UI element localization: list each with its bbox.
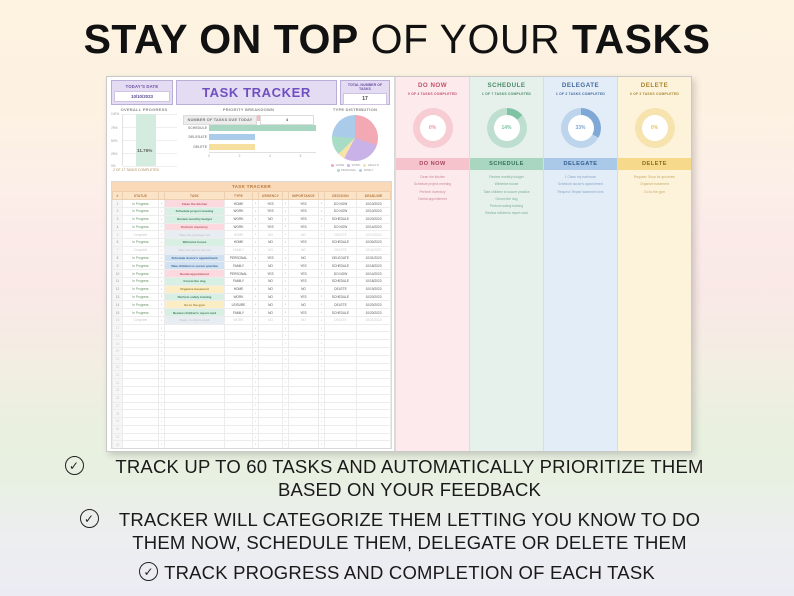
table-row[interactable]: 4In Progress▾Perform inventoryWORK▾YES▾Y… bbox=[113, 223, 391, 231]
table-header-task[interactable]: TASK bbox=[165, 192, 225, 200]
cell-status[interactable]: In Progress bbox=[123, 278, 159, 286]
cell-status[interactable]: Complete bbox=[123, 246, 159, 254]
cell-empty[interactable] bbox=[325, 348, 357, 356]
panel-list-item: 1 Clean my bathroom bbox=[547, 174, 614, 181]
cell-task[interactable]: Take the pet to the vet bbox=[165, 246, 225, 254]
table-row[interactable]: 20 ▾ ▾ ▾ ▾ bbox=[113, 348, 391, 356]
cell-status[interactable]: In Progress bbox=[123, 270, 159, 278]
cell-status[interactable]: In Progress bbox=[123, 215, 159, 223]
y-tick-100: 100% bbox=[111, 112, 119, 116]
tasks-due-today-value[interactable]: 4 bbox=[260, 115, 314, 125]
cell-empty[interactable] bbox=[325, 371, 357, 379]
priority-label-schedule: SCHEDULE bbox=[182, 126, 207, 130]
cell-importance[interactable]: YES bbox=[289, 239, 319, 247]
cell-type[interactable]: FAMILY bbox=[225, 246, 253, 254]
table-row[interactable]: 22 ▾ ▾ ▾ ▾ bbox=[113, 363, 391, 371]
cell-empty[interactable] bbox=[325, 332, 357, 340]
table-row[interactable]: 21 ▾ ▾ ▾ ▾ bbox=[113, 355, 391, 363]
cell-empty[interactable] bbox=[123, 348, 159, 356]
cell-empty[interactable] bbox=[289, 355, 319, 363]
cell-empty[interactable] bbox=[123, 433, 159, 441]
row-number: 5 bbox=[113, 231, 123, 239]
row-number[interactable]: 28 bbox=[113, 410, 123, 418]
legend-item-home: HOME bbox=[331, 163, 344, 167]
panel-sc[interactable]: SCHEDULE1 OF 7 TASKS COMPLETED14%SCHEDUL… bbox=[469, 77, 543, 451]
cell-type[interactable]: FAMILY bbox=[225, 262, 253, 270]
cell-empty[interactable] bbox=[357, 386, 391, 394]
feature-bullets: ✓TRACK UP TO 60 TASKS AND AUTOMATICALLY … bbox=[0, 455, 794, 591]
panel-dl[interactable]: DELETE0 OF 3 TASKS COMPLETED0%DELETERequ… bbox=[617, 77, 691, 451]
cell-urgency[interactable]: NO bbox=[259, 285, 283, 293]
cell-status[interactable]: In Progress bbox=[123, 285, 159, 293]
cell-type[interactable]: FAMILY bbox=[225, 278, 253, 286]
row-number[interactable]: 18 bbox=[113, 332, 123, 340]
cell-status[interactable]: Complete bbox=[123, 231, 159, 239]
cell-empty[interactable] bbox=[289, 324, 319, 332]
cell-importance[interactable]: NO bbox=[289, 301, 319, 309]
cell-empty[interactable] bbox=[225, 433, 253, 441]
cell-empty[interactable] bbox=[123, 371, 159, 379]
cell-empty[interactable] bbox=[225, 355, 253, 363]
cell-empty[interactable] bbox=[357, 425, 391, 433]
cell-urgency[interactable]: YES bbox=[259, 223, 283, 231]
cell-type[interactable]: HOME bbox=[225, 231, 253, 239]
table-row[interactable]: 14In Progress▾Go to the gymLEISURE▾NO▾NO… bbox=[113, 301, 391, 309]
cell-deadline[interactable]: 10/14/2023 bbox=[357, 223, 391, 231]
cell-empty[interactable] bbox=[259, 355, 283, 363]
table-row[interactable]: 1In Progress▾Clean the kitchenHOME▾YES▾Y… bbox=[113, 200, 391, 208]
row-number[interactable]: 25 bbox=[113, 386, 123, 394]
panel-donut-wrap-dg: 33% bbox=[544, 99, 617, 158]
cell-deadline[interactable]: 10/20/2023 bbox=[357, 215, 391, 223]
cell-status[interactable]: In Progress bbox=[123, 200, 159, 208]
cell-empty[interactable] bbox=[325, 418, 357, 426]
spreadsheet-window[interactable]: TODAY'S DATE 10/10/2023 TASK TRACKER TOT… bbox=[106, 76, 692, 452]
cell-task[interactable]: Groom the dog bbox=[165, 278, 225, 286]
cell-empty[interactable] bbox=[225, 363, 253, 371]
cell-deadline[interactable]: 10/18/2023 bbox=[357, 278, 391, 286]
table-row[interactable]: 12In Progress▾Organize basementHOME▾NO▾N… bbox=[113, 285, 391, 293]
cell-empty[interactable] bbox=[325, 394, 357, 402]
cell-status[interactable]: In Progress bbox=[123, 223, 159, 231]
priority-row-delete: DELETE bbox=[209, 143, 316, 151]
cell-empty[interactable] bbox=[165, 410, 225, 418]
cell-status[interactable]: In Progress bbox=[123, 262, 159, 270]
cell-empty[interactable] bbox=[259, 410, 283, 418]
cell-empty[interactable] bbox=[357, 402, 391, 410]
table-row[interactable]: 10In Progress▾Dental appointmentPERSONAL… bbox=[113, 270, 391, 278]
cell-importance[interactable]: YES bbox=[289, 293, 319, 301]
cell-empty[interactable] bbox=[259, 324, 283, 332]
cell-importance[interactable]: YES bbox=[289, 262, 319, 270]
panel-dg[interactable]: DELEGATE1 OF 3 TASKS COMPLETED33%DELEGAT… bbox=[543, 77, 617, 451]
cell-empty[interactable] bbox=[225, 379, 253, 387]
row-number[interactable]: 21 bbox=[113, 355, 123, 363]
cell-deadline[interactable]: 10/20/2023 bbox=[357, 309, 391, 317]
cell-empty[interactable] bbox=[165, 394, 225, 402]
cell-decision: DO NOW bbox=[325, 200, 357, 208]
cell-empty[interactable] bbox=[165, 379, 225, 387]
cell-deadline[interactable]: 10/14/2023 bbox=[357, 270, 391, 278]
panel-do[interactable]: DO NOW0 OF 4 TASKS COMPLETED0%DO NOWClea… bbox=[395, 77, 469, 451]
table-row[interactable]: 3In Progress▾Review monthly budgetWORK▾N… bbox=[113, 215, 391, 223]
cell-type[interactable]: WORK bbox=[225, 293, 253, 301]
cell-empty[interactable] bbox=[357, 355, 391, 363]
cell-empty[interactable] bbox=[259, 418, 283, 426]
row-number[interactable]: 29 bbox=[113, 418, 123, 426]
cell-empty[interactable] bbox=[289, 418, 319, 426]
panel-list-dg: 1 Clean my bathroomSchedule doctor's app… bbox=[544, 170, 617, 451]
cell-task[interactable]: Perform inventory bbox=[165, 223, 225, 231]
cell-urgency[interactable]: YES bbox=[259, 207, 283, 215]
cell-status[interactable]: In Progress bbox=[123, 301, 159, 309]
cell-empty[interactable] bbox=[123, 332, 159, 340]
cell-empty[interactable] bbox=[123, 402, 159, 410]
cell-empty[interactable] bbox=[165, 418, 225, 426]
cell-empty[interactable] bbox=[165, 425, 225, 433]
cell-importance[interactable]: YES bbox=[289, 270, 319, 278]
cell-empty[interactable] bbox=[165, 332, 225, 340]
cell-task[interactable]: Review children's report card bbox=[165, 309, 225, 317]
cell-task[interactable]: Schedule doctor's appointment bbox=[165, 254, 225, 262]
cell-empty[interactable] bbox=[259, 441, 283, 449]
cell-urgency[interactable]: NO bbox=[259, 239, 283, 247]
total-tasks-cell[interactable]: TOTAL NUMBER OF TASKS 17 bbox=[340, 80, 390, 105]
table-row[interactable]: 17 ▾ ▾ ▾ ▾ bbox=[113, 324, 391, 332]
cell-empty[interactable] bbox=[165, 371, 225, 379]
cell-empty[interactable] bbox=[123, 324, 159, 332]
cell-empty[interactable] bbox=[123, 340, 159, 348]
cell-empty[interactable] bbox=[325, 340, 357, 348]
table-row[interactable]: 5Complete▾Take the garbage outHOME▾NO▾NO… bbox=[113, 231, 391, 239]
table-row[interactable]: 15In Progress▾Review children's report c… bbox=[113, 309, 391, 317]
cell-urgency[interactable]: YES bbox=[259, 200, 283, 208]
row-number[interactable]: 27 bbox=[113, 402, 123, 410]
cell-urgency[interactable]: YES bbox=[259, 254, 283, 262]
row-number[interactable]: 30 bbox=[113, 425, 123, 433]
cell-empty[interactable] bbox=[165, 348, 225, 356]
cell-status[interactable]: In Progress bbox=[123, 293, 159, 301]
cell-task[interactable]: Clean the kitchen bbox=[165, 200, 225, 208]
cell-empty[interactable] bbox=[165, 402, 225, 410]
cell-empty[interactable] bbox=[225, 324, 253, 332]
cell-task[interactable]: Go to the gym bbox=[165, 301, 225, 309]
cell-empty[interactable] bbox=[165, 340, 225, 348]
cell-empty[interactable] bbox=[123, 418, 159, 426]
table-row[interactable]: 26 ▾ ▾ ▾ ▾ bbox=[113, 394, 391, 402]
cell-empty[interactable] bbox=[289, 402, 319, 410]
cell-importance[interactable]: NO bbox=[289, 254, 319, 262]
cell-urgency[interactable]: NO bbox=[259, 278, 283, 286]
table-row[interactable]: 2In Progress▾Schedule project meetingWOR… bbox=[113, 207, 391, 215]
table-header-decision[interactable]: DECISION bbox=[325, 192, 357, 200]
cell-decision: DELETE bbox=[325, 301, 357, 309]
cell-task[interactable]: Take the garbage out bbox=[165, 231, 225, 239]
task-table[interactable]: TASK TRACKER #STATUSTASKTYPEURGENCYIMPOR… bbox=[111, 181, 392, 449]
cell-status[interactable]: In Progress bbox=[123, 254, 159, 262]
cell-empty[interactable] bbox=[259, 433, 283, 441]
cell-empty[interactable] bbox=[289, 425, 319, 433]
cell-type[interactable]: LEISURE bbox=[225, 301, 253, 309]
cell-empty[interactable] bbox=[357, 394, 391, 402]
cell-empty[interactable] bbox=[289, 363, 319, 371]
cell-importance[interactable]: YES bbox=[289, 223, 319, 231]
cell-status[interactable]: In Progress bbox=[123, 239, 159, 247]
cell-empty[interactable] bbox=[123, 425, 159, 433]
cell-empty[interactable] bbox=[123, 394, 159, 402]
cell-empty[interactable] bbox=[225, 410, 253, 418]
cell-empty[interactable] bbox=[289, 348, 319, 356]
panel-subtitle-do: 0 OF 4 TASKS COMPLETED bbox=[396, 92, 469, 96]
cell-empty[interactable] bbox=[325, 379, 357, 387]
table-header-#[interactable]: # bbox=[113, 192, 123, 200]
cell-empty[interactable] bbox=[225, 332, 253, 340]
cell-empty[interactable] bbox=[289, 441, 319, 449]
cell-empty[interactable] bbox=[259, 348, 283, 356]
row-number[interactable]: 32 bbox=[113, 441, 123, 449]
cell-empty[interactable] bbox=[259, 425, 283, 433]
cell-deadline[interactable]: 10/19/2023 bbox=[357, 285, 391, 293]
cell-empty[interactable] bbox=[289, 332, 319, 340]
cell-empty[interactable] bbox=[225, 441, 253, 449]
cell-empty[interactable] bbox=[259, 363, 283, 371]
cell-empty[interactable] bbox=[357, 332, 391, 340]
cell-empty[interactable] bbox=[225, 348, 253, 356]
cell-empty[interactable] bbox=[325, 355, 357, 363]
cell-empty[interactable] bbox=[357, 379, 391, 387]
cell-empty[interactable] bbox=[225, 394, 253, 402]
cell-importance[interactable]: NO bbox=[289, 285, 319, 293]
row-number[interactable]: 19 bbox=[113, 340, 123, 348]
cell-empty[interactable] bbox=[357, 340, 391, 348]
cell-empty[interactable] bbox=[225, 371, 253, 379]
row-number[interactable]: 31 bbox=[113, 433, 123, 441]
cell-empty[interactable] bbox=[289, 371, 319, 379]
cell-empty[interactable] bbox=[123, 410, 159, 418]
row-number[interactable]: 26 bbox=[113, 394, 123, 402]
table-row[interactable]: 23 ▾ ▾ ▾ ▾ bbox=[113, 371, 391, 379]
cell-empty[interactable] bbox=[225, 425, 253, 433]
cell-deadline[interactable]: 10/30/2023 bbox=[357, 239, 391, 247]
cell-type[interactable]: PERSONAL bbox=[225, 254, 253, 262]
cell-type[interactable]: WORK bbox=[225, 207, 253, 215]
table-row[interactable]: 25 ▾ ▾ ▾ ▾ bbox=[113, 386, 391, 394]
panel-band-do: DO NOW bbox=[396, 158, 469, 170]
cell-empty[interactable] bbox=[357, 363, 391, 371]
cell-deadline[interactable]: 10/21/2023 bbox=[357, 316, 391, 324]
type-distribution-legend: HOME WORK HEALTH PERSONAL FAMILY bbox=[320, 161, 390, 172]
cell-empty[interactable] bbox=[357, 324, 391, 332]
cell-empty[interactable] bbox=[123, 363, 159, 371]
row-number[interactable]: 20 bbox=[113, 348, 123, 356]
row-number[interactable]: 22 bbox=[113, 363, 123, 371]
cell-type[interactable]: WORK bbox=[225, 215, 253, 223]
table-row[interactable]: 30 ▾ ▾ ▾ ▾ bbox=[113, 425, 391, 433]
table-row[interactable]: 13In Progress▾Perform safety trainingWOR… bbox=[113, 293, 391, 301]
cell-importance[interactable]: YES bbox=[289, 278, 319, 286]
cell-empty[interactable] bbox=[225, 418, 253, 426]
table-row[interactable]: 31 ▾ ▾ ▾ ▾ bbox=[113, 433, 391, 441]
cell-deadline[interactable]: 10/10/2023 bbox=[357, 200, 391, 208]
cell-empty[interactable] bbox=[165, 386, 225, 394]
cell-empty[interactable] bbox=[289, 410, 319, 418]
y-tick-50: 50% bbox=[111, 139, 117, 143]
cell-urgency[interactable]: NO bbox=[259, 231, 283, 239]
donut-chart-sc: 14% bbox=[487, 108, 527, 148]
cell-empty[interactable] bbox=[259, 402, 283, 410]
cell-urgency[interactable]: NO bbox=[259, 316, 283, 324]
cell-empty[interactable] bbox=[357, 441, 391, 449]
panel-header-sc: SCHEDULE1 OF 7 TASKS COMPLETED bbox=[470, 77, 543, 99]
cell-empty[interactable] bbox=[165, 363, 225, 371]
table-row[interactable]: 7Complete▾Take the pet to the vetFAMILY▾… bbox=[113, 246, 391, 254]
cell-empty[interactable] bbox=[289, 379, 319, 387]
cell-empty[interactable] bbox=[325, 441, 357, 449]
table-row[interactable]: 11In Progress▾Groom the dogFAMILY▾NO▾YES… bbox=[113, 278, 391, 286]
cell-empty[interactable] bbox=[289, 433, 319, 441]
cell-empty[interactable] bbox=[325, 402, 357, 410]
row-number[interactable]: 17 bbox=[113, 324, 123, 332]
row-number[interactable]: 23 bbox=[113, 371, 123, 379]
cell-empty[interactable] bbox=[123, 355, 159, 363]
cell-type[interactable]: HOME bbox=[225, 239, 253, 247]
cell-deadline[interactable]: 10/18/2023 bbox=[357, 262, 391, 270]
cell-importance[interactable]: NO bbox=[289, 246, 319, 254]
cell-type[interactable]: FAMILY bbox=[225, 309, 253, 317]
cell-empty[interactable] bbox=[225, 340, 253, 348]
cell-status[interactable]: In Progress bbox=[123, 309, 159, 317]
cell-deadline[interactable]: 10/20/2023 bbox=[357, 293, 391, 301]
cell-empty[interactable] bbox=[259, 379, 283, 387]
cell-empty[interactable] bbox=[259, 340, 283, 348]
cell-empty[interactable] bbox=[325, 410, 357, 418]
cell-empty[interactable] bbox=[165, 355, 225, 363]
cell-task[interactable]: Perform safety training bbox=[165, 293, 225, 301]
cell-type[interactable]: HOME bbox=[225, 285, 253, 293]
cell-status[interactable]: In Progress bbox=[123, 207, 159, 215]
cell-urgency[interactable]: NO bbox=[259, 262, 283, 270]
cell-urgency[interactable]: YES bbox=[259, 270, 283, 278]
cell-empty[interactable] bbox=[325, 324, 357, 332]
cell-empty[interactable] bbox=[259, 332, 283, 340]
cell-deadline[interactable]: 10/12/2023 bbox=[357, 231, 391, 239]
table-header-status[interactable]: STATUS bbox=[123, 192, 159, 200]
cell-empty[interactable] bbox=[325, 363, 357, 371]
todays-date-value[interactable]: 10/10/2023 bbox=[114, 91, 170, 102]
cell-empty[interactable] bbox=[225, 386, 253, 394]
panel-list-item: Review monthly budget bbox=[473, 174, 540, 181]
cell-empty[interactable] bbox=[123, 386, 159, 394]
cell-empty[interactable] bbox=[225, 402, 253, 410]
table-row[interactable]: 9In Progress▾Take children to soccer pra… bbox=[113, 262, 391, 270]
cell-importance[interactable]: YES bbox=[289, 207, 319, 215]
panel-list-item: Take children to soccer practice bbox=[473, 188, 540, 195]
cell-task[interactable]: Take children to soccer practice bbox=[165, 262, 225, 270]
cell-empty[interactable] bbox=[357, 371, 391, 379]
cell-empty[interactable] bbox=[259, 371, 283, 379]
cell-empty[interactable] bbox=[357, 433, 391, 441]
cell-empty[interactable] bbox=[289, 394, 319, 402]
table-row[interactable]: 18 ▾ ▾ ▾ ▾ bbox=[113, 332, 391, 340]
cell-task[interactable]: Review monthly budget bbox=[165, 215, 225, 223]
cell-task[interactable]: Dental appointment bbox=[165, 270, 225, 278]
table-row[interactable]: 24 ▾ ▾ ▾ ▾ bbox=[113, 379, 391, 387]
table-header-urgency[interactable]: URGENCY bbox=[259, 192, 283, 200]
cell-empty[interactable] bbox=[325, 386, 357, 394]
cell-empty[interactable] bbox=[325, 433, 357, 441]
legend-label-work: WORK bbox=[352, 163, 361, 167]
cell-importance[interactable]: YES bbox=[289, 309, 319, 317]
cell-deadline[interactable]: 10/11/2023 bbox=[357, 246, 391, 254]
cell-empty[interactable] bbox=[123, 379, 159, 387]
cell-importance[interactable]: NO bbox=[289, 316, 319, 324]
cell-urgency[interactable]: NO bbox=[259, 309, 283, 317]
donut-percent-sc: 14% bbox=[501, 125, 511, 131]
table-row[interactable]: 28 ▾ ▾ ▾ ▾ bbox=[113, 410, 391, 418]
cell-empty[interactable] bbox=[357, 410, 391, 418]
table-header-deadline[interactable]: DEADLINE bbox=[357, 192, 391, 200]
cell-empty[interactable] bbox=[325, 425, 357, 433]
todays-date-cell[interactable]: TODAY'S DATE 10/10/2023 bbox=[111, 80, 173, 105]
cell-empty[interactable] bbox=[259, 386, 283, 394]
cell-task[interactable]: Reply to client email bbox=[165, 316, 225, 324]
cell-deadline[interactable]: 10/10/2023 bbox=[357, 207, 391, 215]
cell-type[interactable]: HOME bbox=[225, 200, 253, 208]
cell-urgency[interactable]: NO bbox=[259, 246, 283, 254]
cell-task[interactable]: Organize basement bbox=[165, 285, 225, 293]
table-row[interactable]: 32 ▾ ▾ ▾ ▾ bbox=[113, 441, 391, 449]
table-row[interactable]: 8In Progress▾Schedule doctor's appointme… bbox=[113, 254, 391, 262]
cell-empty[interactable] bbox=[357, 348, 391, 356]
tracker-sheet[interactable]: TODAY'S DATE 10/10/2023 TASK TRACKER TOT… bbox=[107, 77, 395, 451]
cell-type[interactable]: WORK bbox=[225, 223, 253, 231]
cell-urgency[interactable]: NO bbox=[259, 293, 283, 301]
table-header-importance[interactable]: IMPORTANCE bbox=[289, 192, 319, 200]
table-row[interactable]: 29 ▾ ▾ ▾ ▾ bbox=[113, 418, 391, 426]
cell-empty[interactable] bbox=[123, 441, 159, 449]
table-row[interactable]: 6In Progress▾Winterize houseHOME▾NO▾YES▾… bbox=[113, 239, 391, 247]
cell-deadline[interactable]: 10/20/2023 bbox=[357, 301, 391, 309]
cell-importance[interactable]: YES bbox=[289, 215, 319, 223]
cell-empty[interactable] bbox=[165, 441, 225, 449]
cell-empty[interactable] bbox=[289, 386, 319, 394]
cell-empty[interactable] bbox=[165, 433, 225, 441]
cell-decision: DELETE bbox=[325, 285, 357, 293]
cell-importance[interactable]: YES bbox=[289, 200, 319, 208]
x-tick-0: 0 bbox=[208, 154, 210, 158]
cell-urgency[interactable]: NO bbox=[259, 301, 283, 309]
row-number[interactable]: 24 bbox=[113, 379, 123, 387]
cell-type[interactable]: WORK bbox=[225, 316, 253, 324]
cell-urgency[interactable]: NO bbox=[259, 215, 283, 223]
cell-empty[interactable] bbox=[165, 324, 225, 332]
panel-header-dg: DELEGATE1 OF 3 TASKS COMPLETED bbox=[544, 77, 617, 99]
cell-empty[interactable] bbox=[289, 340, 319, 348]
cell-deadline[interactable]: 10/31/2023 bbox=[357, 254, 391, 262]
table-row[interactable]: 16Complete▾Reply to client emailWORK▾NO▾… bbox=[113, 316, 391, 324]
legend-label-family: FAMILY bbox=[364, 168, 374, 172]
cell-status[interactable]: Complete bbox=[123, 316, 159, 324]
cell-task[interactable]: Winterize house bbox=[165, 239, 225, 247]
cell-type[interactable]: PERSONAL bbox=[225, 270, 253, 278]
cell-empty[interactable] bbox=[357, 418, 391, 426]
cell-empty[interactable] bbox=[259, 394, 283, 402]
table-row[interactable]: 27 ▾ ▾ ▾ ▾ bbox=[113, 402, 391, 410]
cell-importance[interactable]: NO bbox=[289, 231, 319, 239]
table-row[interactable]: 19 ▾ ▾ ▾ ▾ bbox=[113, 340, 391, 348]
table-header-type[interactable]: TYPE bbox=[225, 192, 253, 200]
cell-task[interactable]: Schedule project meeting bbox=[165, 207, 225, 215]
